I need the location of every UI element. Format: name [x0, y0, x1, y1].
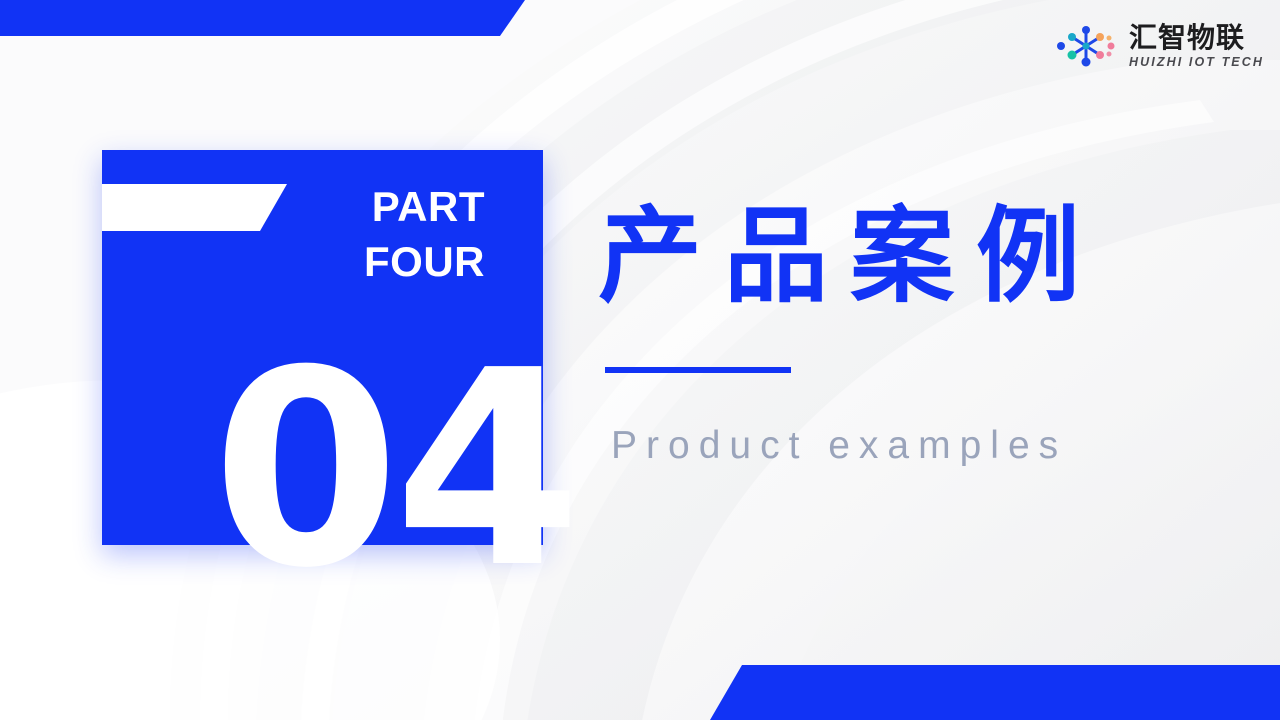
logo-chinese-name: 汇智物联	[1129, 24, 1264, 52]
part-label: PART FOUR	[235, 180, 485, 289]
part-label-line-1: PART	[235, 180, 485, 235]
page-title: 产品案例	[598, 198, 1102, 314]
section-number: 04	[102, 335, 543, 605]
page-subtitle: Product examples	[611, 424, 1067, 468]
part-label-line-2: FOUR	[235, 235, 485, 290]
network-molecule-icon	[1055, 25, 1121, 67]
bottom-right-accent-bar	[710, 665, 1280, 720]
brand-logo: 汇智物联 HUIZHI IOT TECH	[1055, 24, 1264, 69]
logo-wordmark: 汇智物联 HUIZHI IOT TECH	[1129, 24, 1264, 69]
section-number-block: PART FOUR 04	[102, 150, 543, 545]
title-underline-rule	[605, 367, 791, 373]
logo-english-name: HUIZHI IOT TECH	[1129, 56, 1264, 69]
top-left-accent-bar	[0, 0, 525, 36]
slide-root: 汇智物联 HUIZHI IOT TECH PART FOUR 04 产品案例 P…	[0, 0, 1280, 720]
